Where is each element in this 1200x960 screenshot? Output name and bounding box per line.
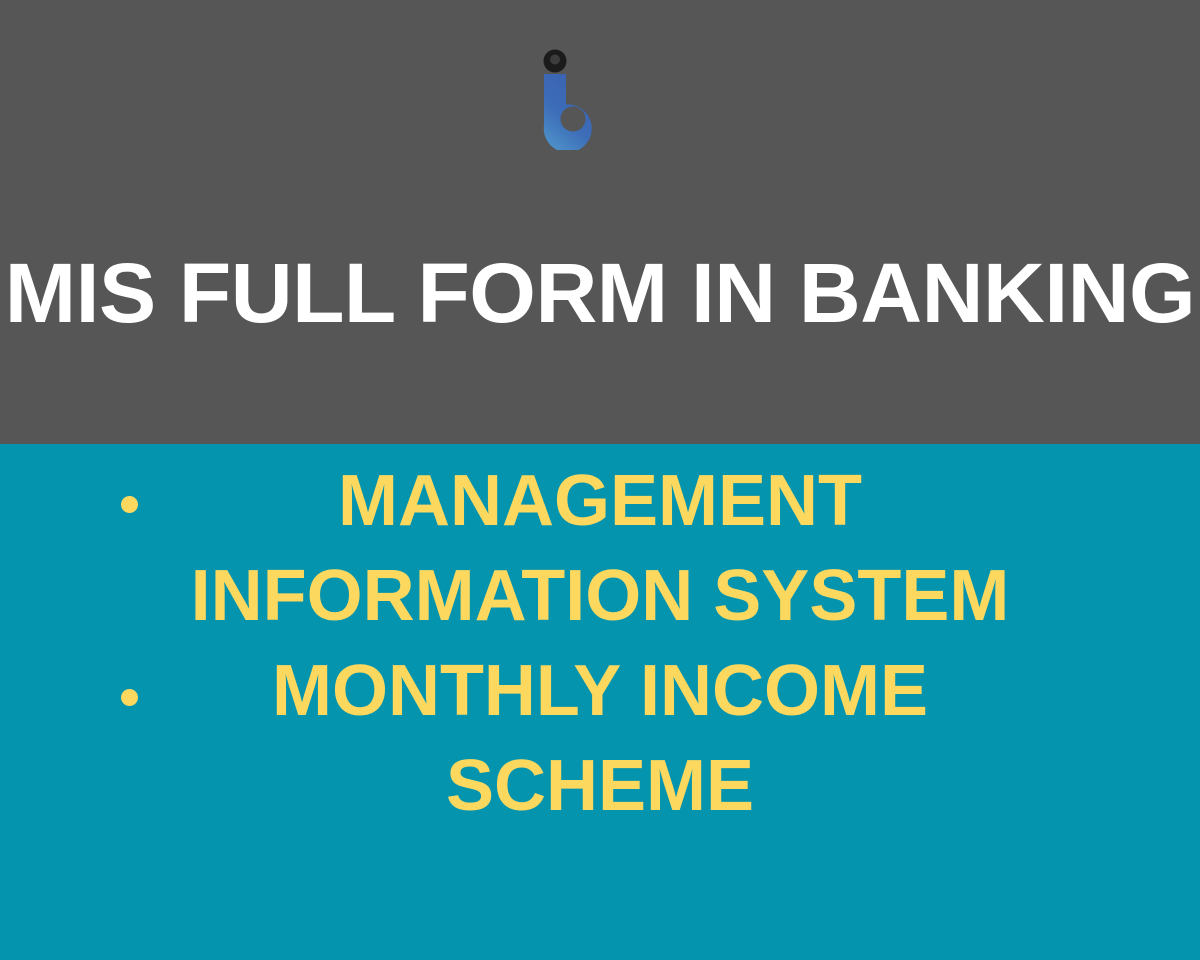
brand-logo-b-icon <box>536 46 604 150</box>
poster-canvas: MIS FULL FORM IN BANKING MANAGEMENT INFO… <box>0 0 1200 960</box>
list-item-line: MONTHLY INCOME <box>60 644 1140 739</box>
content-section: MANAGEMENT INFORMATION SYSTEM MONTHLY IN… <box>0 444 1200 960</box>
list-item-line: INFORMATION SYSTEM <box>60 549 1140 644</box>
list-item-line: MANAGEMENT <box>60 454 1140 549</box>
definition-list: MANAGEMENT INFORMATION SYSTEM MONTHLY IN… <box>0 454 1200 834</box>
header-section: MIS FULL FORM IN BANKING <box>0 0 1200 444</box>
page-title: MIS FULL FORM IN BANKING <box>0 250 1200 336</box>
list-item-line: SCHEME <box>60 739 1140 834</box>
